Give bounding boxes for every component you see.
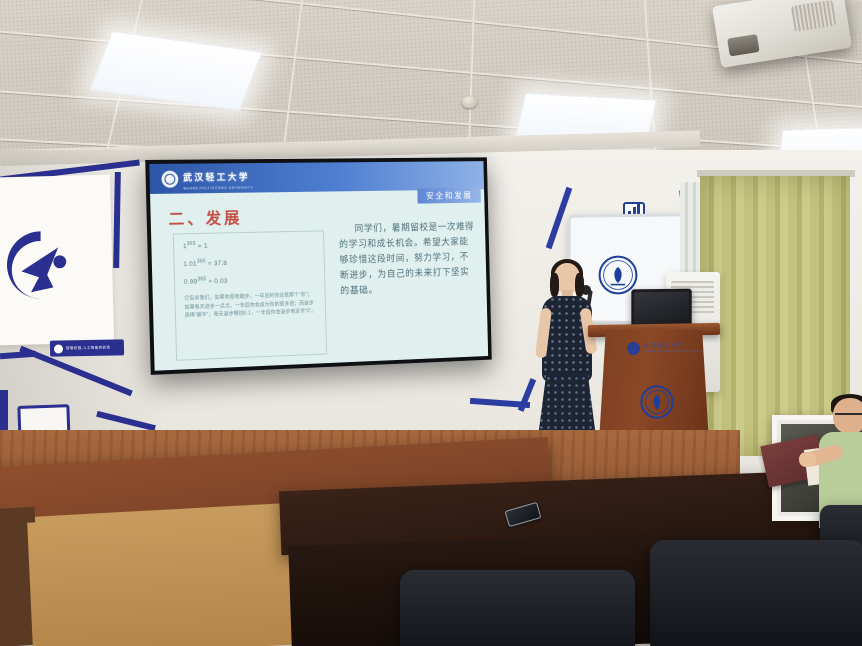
attendee-hand xyxy=(799,452,816,467)
slide-left-paragraph: 它告诉我们，如果你原地踏步，一年后的你还是那个“你”；如果每天进步一点点，一年后… xyxy=(184,291,317,319)
formula-box: 1365 = 1 1.01365 ≈ 37.8 0.99365 ≈ 0.03 它… xyxy=(173,230,327,360)
podium-university-name: 武汉轻工大学 WUHAN POLYTECHNIC UNIVERSITY xyxy=(644,342,703,353)
podium-university-name-en: WUHAN POLYTECHNIC UNIVERSITY xyxy=(644,350,703,353)
presenter-hair-side xyxy=(550,273,559,297)
slide-university-subtitle: WUHAN POLYTECHNIC UNIVERSITY xyxy=(183,185,253,190)
lecture-hall-photo: 智慧校园·人工智能实验室 武汉轻工大学 WUHAN POLYTECHNIC UN… xyxy=(0,0,862,646)
projector-lens xyxy=(727,34,759,56)
presenter-hair-side xyxy=(575,273,584,297)
projection-screen: 武汉轻工大学 WUHAN POLYTECHNIC UNIVERSITY 安全和发… xyxy=(145,157,492,375)
presenter-floral-dress-skirt xyxy=(538,375,596,437)
podium-emblem-icon xyxy=(627,342,640,355)
projector-vent xyxy=(791,0,837,32)
formula-row-2: 1.01365 ≈ 37.8 xyxy=(183,256,315,268)
formula-row-1: 1365 = 1 xyxy=(183,238,315,250)
eyeglasses-icon xyxy=(835,413,862,421)
wall-lab-nameplate: 智慧校园·人工智能实验室 xyxy=(50,339,124,356)
presentation-slide: 武汉轻工大学 WUHAN POLYTECHNIC UNIVERSITY 安全和发… xyxy=(149,161,488,371)
slide-university-name: 武汉轻工大学 xyxy=(183,171,250,182)
formula-row-3: 0.99365 ≈ 0.03 xyxy=(184,274,316,287)
slide-right-paragraph: 同学们，暑期留校是一次难得的学习和成长机会。希望大家能够珍惜这段时间，努力学习，… xyxy=(339,220,476,300)
university-emblem-icon xyxy=(161,170,178,187)
chair xyxy=(400,570,635,646)
presenter-woman xyxy=(536,263,598,455)
nameplate-mark-icon xyxy=(54,344,63,353)
podium-front-emblem-icon xyxy=(640,385,674,419)
chair xyxy=(650,540,862,646)
slide-title: 二、发展 xyxy=(168,204,242,229)
slide-section-banner: 安全和发展 xyxy=(418,188,481,204)
university-abstract-logo xyxy=(0,225,82,305)
smoke-detector-icon xyxy=(462,96,477,108)
wall-plate-label: 智慧校园·人工智能实验室 xyxy=(66,345,110,351)
